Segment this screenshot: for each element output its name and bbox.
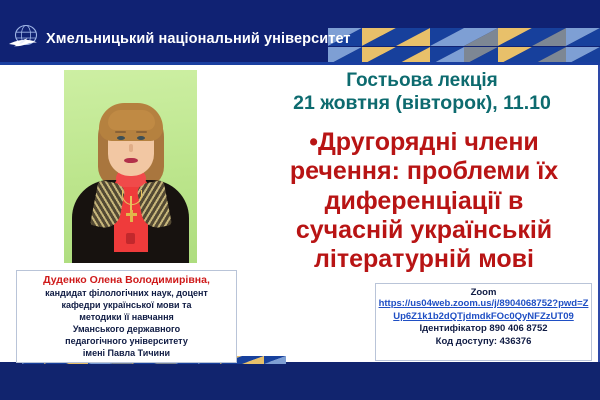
lecture-heading-line1: Гостьова лекція [252, 70, 592, 92]
page-title-line2: речення: проблеми їх [250, 157, 598, 186]
page-title-line3: диференціації в [250, 187, 598, 216]
lecture-heading: Гостьова лекція 21 жовтня (вівторок), 11… [252, 70, 592, 115]
lecture-heading-line2: 21 жовтня (вівторок), 11.10 [252, 92, 592, 115]
zoom-passcode: Код доступу: 436376 [376, 336, 591, 349]
zoom-label: Zoom [376, 287, 591, 298]
mosaic-cell [464, 28, 498, 47]
mosaic-cell [566, 28, 600, 47]
speaker-description: кандидат філологічних наук, доцент кафед… [17, 288, 236, 360]
university-name: Хмельницький національний університет [46, 31, 351, 47]
mosaic-cell [396, 28, 430, 47]
page-title-line5: літературній мові [250, 245, 598, 274]
globe-bird-logo-icon [7, 24, 41, 54]
mosaic-triangle [498, 28, 532, 46]
mosaic-triangle [362, 28, 396, 46]
speaker-description-line: імені Павла Тичини [17, 348, 236, 360]
mosaic-cell [362, 28, 396, 47]
zoom-meeting-link[interactable]: https://us04web.zoom.us/j/8904068752?pwd… [376, 298, 591, 323]
page-title: •Другорядні члени речення: проблеми їх д… [250, 128, 598, 274]
speaker-name: Дуденко Олена Володимирівна, [17, 274, 236, 287]
mosaic-cell [532, 28, 566, 47]
mosaic-triangle [242, 356, 264, 364]
speaker-info-box: Дуденко Олена Володимирівна, кандидат фі… [16, 270, 237, 363]
mosaic-triangle [566, 28, 600, 46]
page-title-line1: •Другорядні члени [250, 128, 598, 157]
presentation-slide: Хмельницький національний університет [0, 0, 600, 400]
mini-mosaic-cell [264, 356, 286, 364]
speaker-description-line: кандидат філологічних наук, доцент [17, 288, 236, 300]
page-title-line4: сучасній українській [250, 216, 598, 245]
mini-mosaic-cell [242, 356, 264, 364]
mosaic-triangle [430, 28, 464, 46]
mosaic-triangle [532, 28, 566, 46]
mosaic-triangle [464, 28, 498, 46]
zoom-info-box: Zoom https://us04web.zoom.us/j/890406875… [375, 283, 592, 361]
mosaic-triangle [396, 28, 430, 46]
mosaic-triangle [264, 356, 286, 364]
speaker-portrait [64, 70, 197, 263]
speaker-description-line: кафедри української мови та [17, 300, 236, 312]
slide-header: Хмельницький національний університет [0, 0, 600, 65]
mosaic-cell [498, 28, 532, 47]
zoom-meeting-id: Ідентифікатор 890 406 8752 [376, 323, 591, 336]
header-triangle-mosaic [328, 28, 600, 65]
mosaic-cell [430, 28, 464, 47]
speaker-description-line: методики її навчання [17, 312, 236, 324]
speaker-description-line: педагогічного університету [17, 336, 236, 348]
speaker-description-line: Уманського державного [17, 324, 236, 336]
